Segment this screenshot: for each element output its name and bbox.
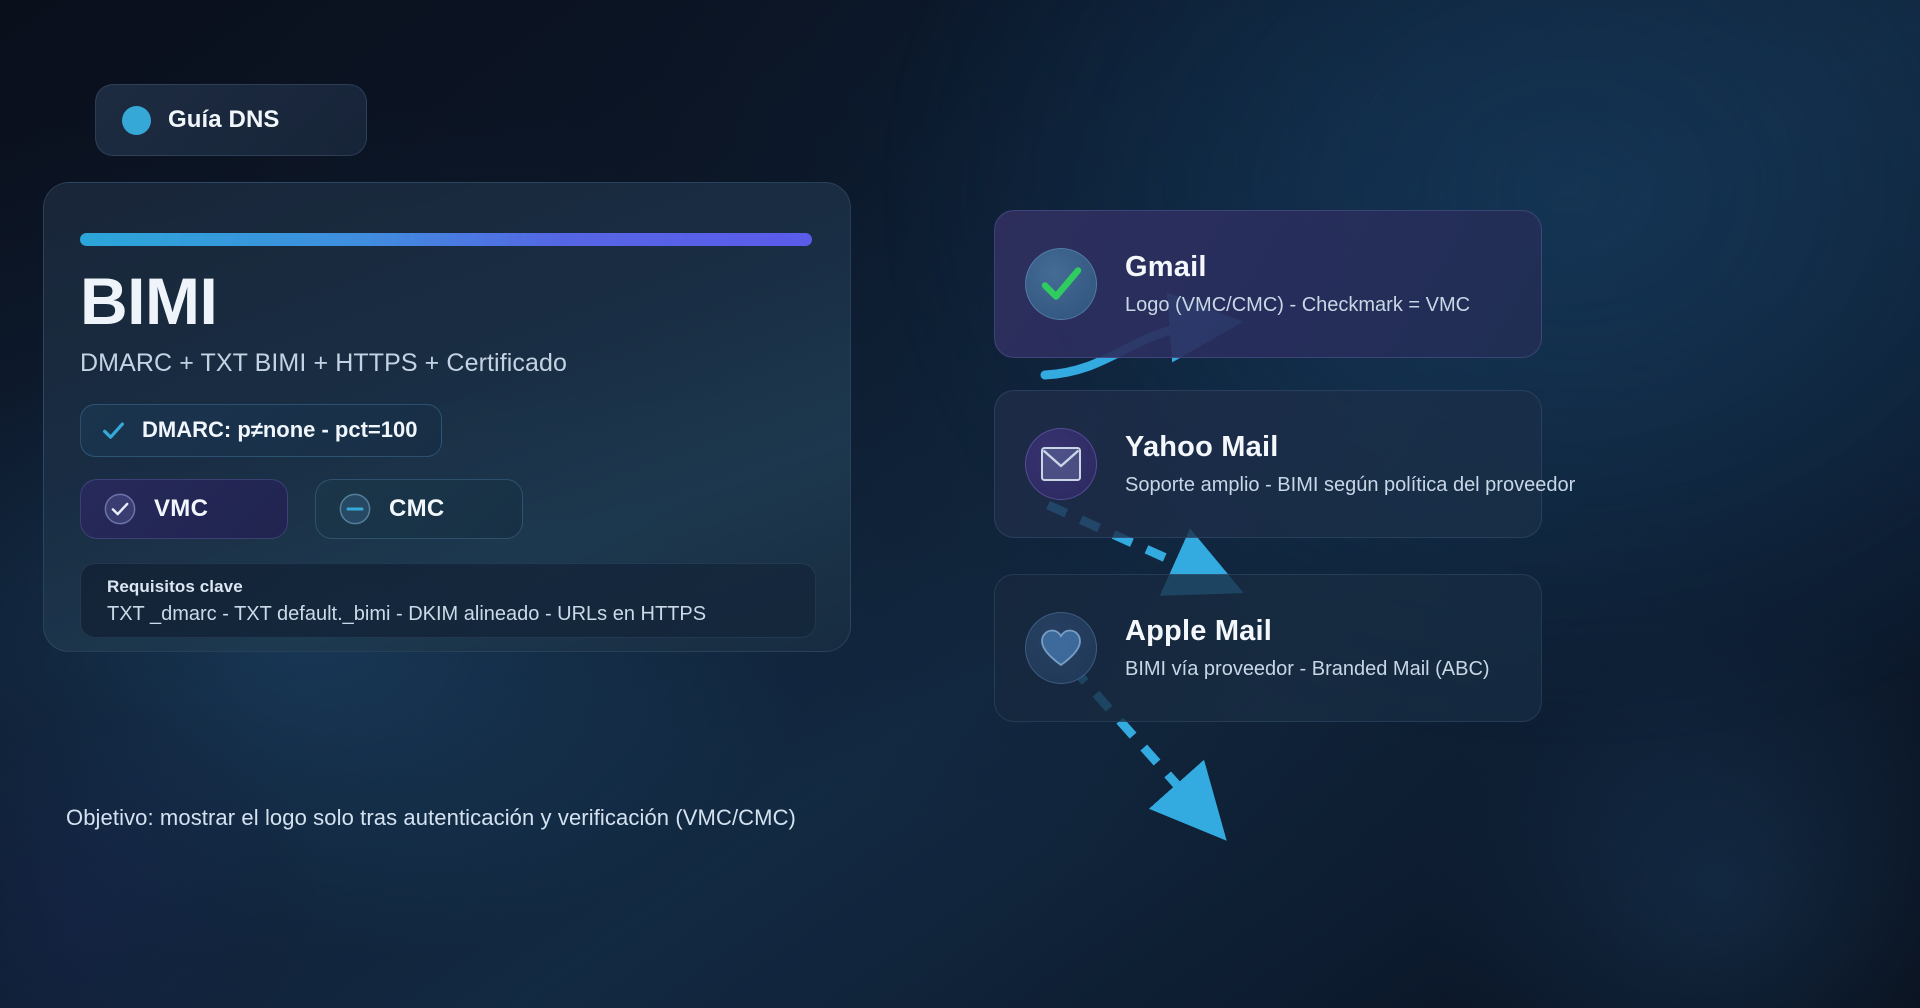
provider-description: Logo (VMC/CMC) - Checkmark = VMC bbox=[1125, 294, 1470, 317]
provider-name: Yahoo Mail bbox=[1125, 431, 1511, 464]
requirements-title: Requisitos clave bbox=[107, 577, 789, 597]
provider-card-gmail[interactable]: Gmail Logo (VMC/CMC) - Checkmark = VMC bbox=[994, 210, 1542, 358]
dmarc-chip[interactable]: DMARC: p≠none - pct=100 bbox=[80, 404, 442, 457]
vmc-chip[interactable]: VMC bbox=[80, 479, 288, 539]
certificate-chip-row: VMC CMC bbox=[80, 479, 814, 539]
provider-description: Soporte amplio - BIMI según política del… bbox=[1125, 474, 1511, 497]
yahoo-text-block: Yahoo Mail Soporte amplio - BIMI según p… bbox=[1125, 431, 1511, 497]
provider-card-yahoo[interactable]: Yahoo Mail Soporte amplio - BIMI según p… bbox=[994, 390, 1542, 538]
check-circle-icon bbox=[103, 492, 137, 526]
bimi-card: BIMI DMARC + TXT BIMI + HTTPS + Certific… bbox=[43, 182, 851, 652]
badge-dot-icon bbox=[122, 106, 151, 135]
gmail-icon-wrap bbox=[1025, 248, 1097, 320]
guia-dns-badge[interactable]: Guía DNS bbox=[95, 84, 367, 156]
bimi-subtitle: DMARC + TXT BIMI + HTTPS + Certificado bbox=[80, 349, 814, 378]
badge-label: Guía DNS bbox=[168, 106, 279, 134]
cmc-chip-label: CMC bbox=[389, 495, 445, 523]
apple-text-block: Apple Mail BIMI vía proveedor - Branded … bbox=[1125, 615, 1490, 681]
provider-description: BIMI vía proveedor - Branded Mail (ABC) bbox=[1125, 658, 1490, 681]
provider-name: Apple Mail bbox=[1125, 615, 1490, 648]
objective-caption: Objetivo: mostrar el logo solo tras aute… bbox=[66, 805, 796, 831]
envelope-icon bbox=[1039, 444, 1083, 484]
green-check-icon bbox=[1035, 258, 1087, 310]
gmail-text-block: Gmail Logo (VMC/CMC) - Checkmark = VMC bbox=[1125, 251, 1470, 317]
check-icon bbox=[101, 418, 126, 443]
requirements-box: Requisitos clave TXT _dmarc - TXT defaul… bbox=[80, 563, 816, 638]
yahoo-icon-wrap bbox=[1025, 428, 1097, 500]
accent-gradient-bar bbox=[80, 233, 812, 246]
provider-name: Gmail bbox=[1125, 251, 1470, 284]
cmc-chip[interactable]: CMC bbox=[315, 479, 523, 539]
provider-card-apple[interactable]: Apple Mail BIMI vía proveedor - Branded … bbox=[994, 574, 1542, 722]
dmarc-chip-label: DMARC: p≠none - pct=100 bbox=[142, 417, 417, 443]
vmc-chip-label: VMC bbox=[154, 495, 208, 523]
requirements-text: TXT _dmarc - TXT default._bimi - DKIM al… bbox=[107, 603, 789, 626]
page-title: BIMI bbox=[80, 270, 814, 333]
minus-circle-icon bbox=[338, 492, 372, 526]
apple-icon-wrap bbox=[1025, 612, 1097, 684]
heart-icon bbox=[1038, 626, 1084, 670]
